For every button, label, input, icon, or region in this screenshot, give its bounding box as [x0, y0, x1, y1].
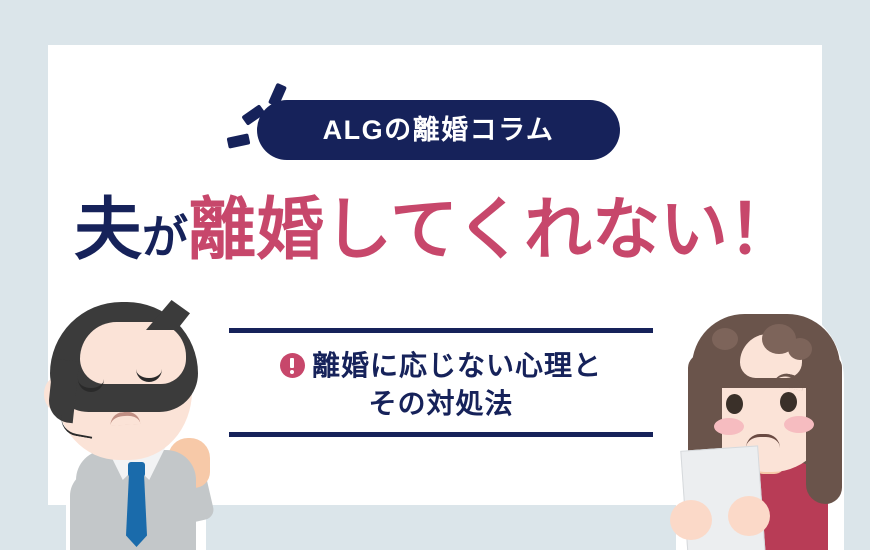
- subtitle-line-1: 離婚に応じない心理と: [312, 350, 602, 381]
- woman-illustration: [648, 300, 870, 550]
- woman-blush-right: [784, 416, 814, 433]
- title-navy-segment: 夫: [74, 192, 142, 268]
- woman-hair-highlight: [788, 338, 812, 360]
- title-pink-segment: 離婚してくれない！: [188, 192, 796, 268]
- woman-eye-right: [780, 392, 797, 412]
- subtitle-body: 離婚に応じない心理と その対処法: [229, 333, 653, 432]
- man-forehead: [80, 322, 186, 384]
- woman-blush-left: [714, 418, 744, 435]
- title-particle: が: [142, 211, 188, 263]
- exclamation-circle-icon: [280, 353, 305, 378]
- column-badge-label: ALGの離婚コラム: [323, 117, 555, 144]
- subtitle-rule-bottom: [229, 432, 653, 437]
- woman-eye-left: [726, 394, 743, 414]
- hero-banner: ALGの離婚コラム 夫が離婚してくれない！ 離婚に応じない心理と その対処法: [0, 0, 870, 550]
- column-badge-group: ALGの離婚コラム: [232, 82, 632, 164]
- woman-hand-left: [670, 500, 712, 540]
- woman-hair-highlight: [712, 328, 738, 350]
- subtitle-line-1-wrap: 離婚に応じない心理と: [229, 347, 653, 385]
- subtitle-block: 離婚に応じない心理と その対処法: [229, 328, 653, 437]
- column-badge: ALGの離婚コラム: [257, 100, 620, 160]
- woman-hand-right: [728, 496, 770, 536]
- man-tie-knot: [128, 462, 145, 477]
- man-illustration: [18, 300, 238, 550]
- page-title: 夫が離婚してくれない！: [0, 196, 870, 264]
- man-necktie: [126, 475, 147, 547]
- subtitle-line-2: その対処法: [229, 385, 653, 423]
